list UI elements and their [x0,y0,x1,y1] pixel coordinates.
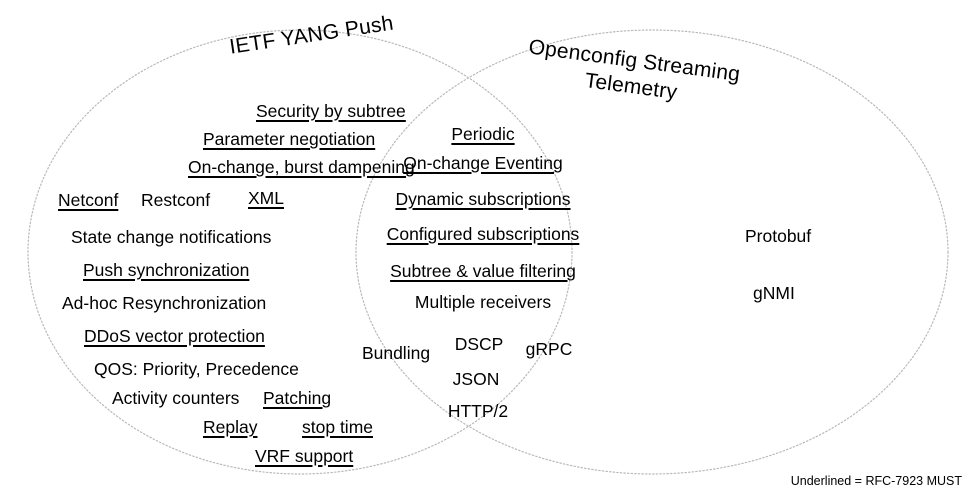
feature-item: Dynamic subscriptions [395,191,570,209]
feature-item: HTTP/2 [448,403,508,421]
right-set-title: Openconfig StreamingTelemetry [505,33,759,116]
left-set-title: IETF YANG Push [228,12,395,61]
venn-diagram-figure: IETF YANG Push Openconfig StreamingTelem… [0,0,972,500]
feature-item: Ad-hoc Resynchronization [62,295,266,313]
feature-item: gRPC [526,341,573,359]
feature-item: JSON [453,371,500,389]
feature-item: Netconf [58,192,118,210]
feature-item: Periodic [451,126,514,144]
legend-footnote: Underlined = RFC-7923 MUST [791,474,962,488]
feature-item: Multiple receivers [415,294,551,312]
feature-item: Replay [203,419,257,437]
feature-item: Protobuf [745,228,811,246]
labels-layer: IETF YANG Push Openconfig StreamingTelem… [0,0,972,500]
feature-item: stop time [302,419,373,437]
feature-item: Activity counters [112,390,239,408]
feature-item: On-change Eventing [403,155,563,173]
feature-item: On-change, burst dampening [188,159,415,177]
feature-item: Security by subtree [256,103,406,121]
feature-item: Bundling [362,345,430,363]
feature-item: DDoS vector protection [84,328,265,346]
feature-item: Parameter negotiation [203,131,375,149]
feature-item: Configured subscriptions [387,226,580,244]
feature-item: Patching [263,390,331,408]
feature-item: Push synchronization [83,262,249,280]
feature-item: QOS: Priority, Precedence [94,361,299,379]
feature-item: DSCP [455,336,504,354]
feature-item: Subtree & value filtering [390,263,576,281]
feature-item: State change notifications [71,229,271,247]
feature-item: XML [248,190,284,208]
feature-item: Restconf [141,192,210,210]
feature-item: VRF support [255,448,353,466]
feature-item: gNMI [753,285,795,303]
